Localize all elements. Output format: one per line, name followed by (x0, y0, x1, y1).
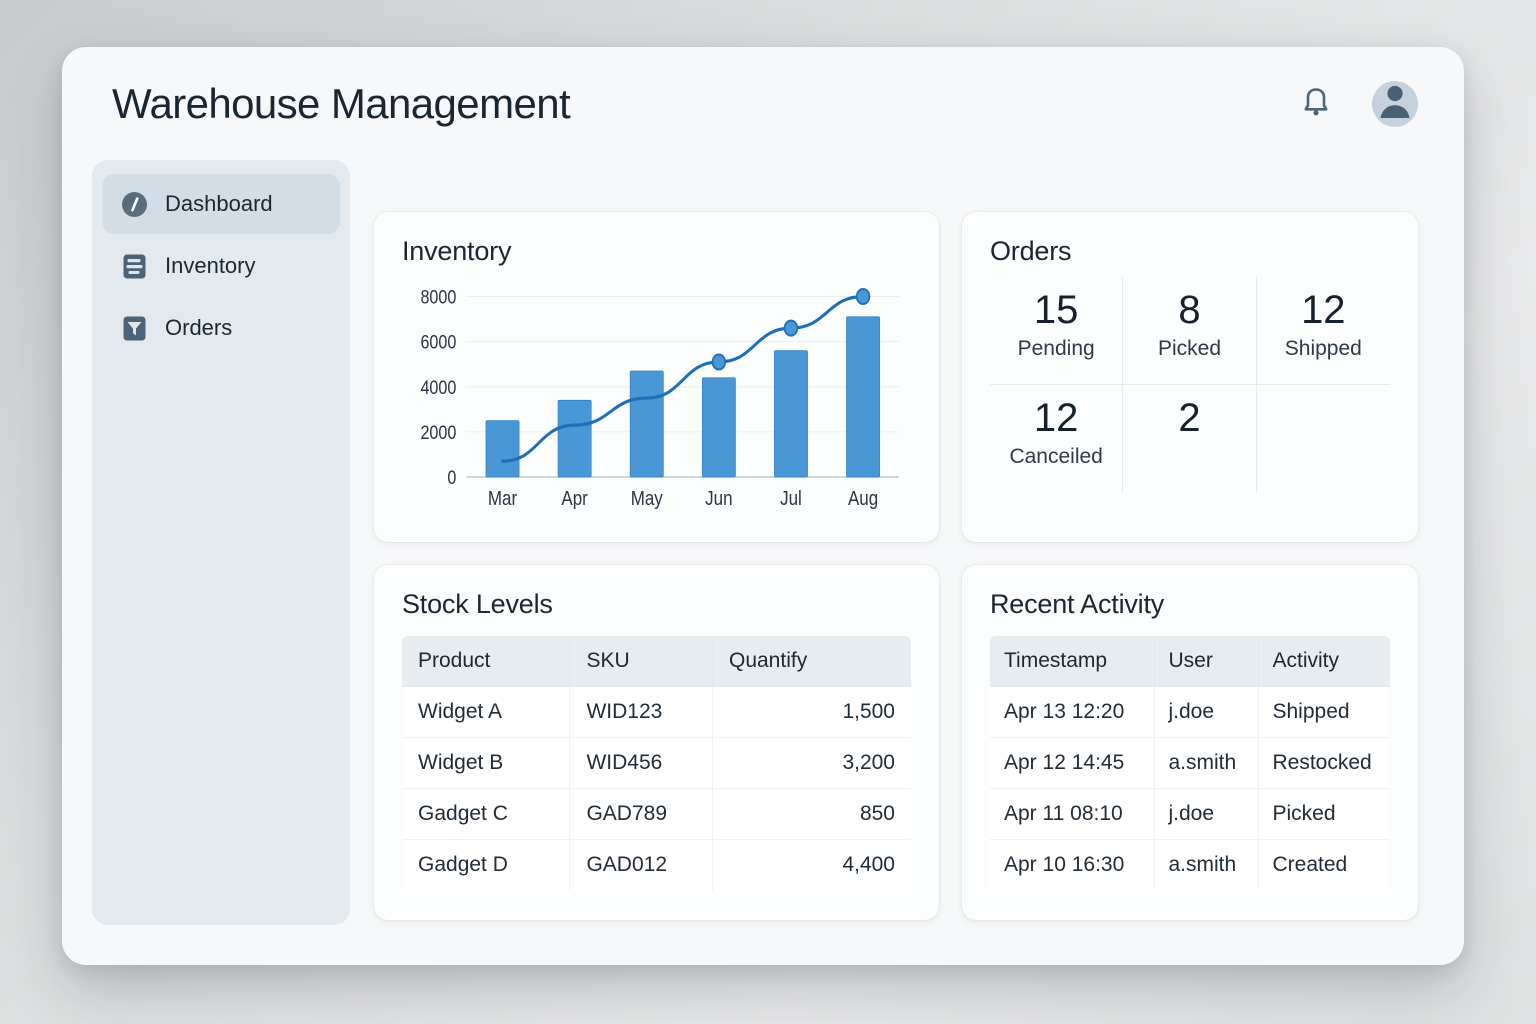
cell-timestamp: Apr 11 08:10 (990, 789, 1154, 840)
stat-value: 8 (1129, 289, 1249, 331)
table-row[interactable]: Apr 13 12:20 j.doe Shipped (990, 687, 1390, 738)
cell-quantity: 4,400 (712, 840, 911, 891)
chart-data-point[interactable] (785, 321, 798, 336)
stat-label: Shipped (1263, 337, 1384, 361)
stat-label: Canceiled (996, 445, 1116, 469)
sidebar-item-inventory[interactable]: Inventory (102, 236, 340, 296)
cell-timestamp: Apr 10 16:30 (990, 840, 1154, 891)
stat-pending[interactable]: 15 Pending (990, 277, 1123, 385)
sidebar-item-orders[interactable]: Orders (102, 298, 340, 358)
card-title-stock-levels: Stock Levels (402, 589, 911, 620)
column-header-product[interactable]: Product (402, 636, 570, 687)
cell-activity: Restocked (1258, 738, 1390, 789)
sidebar-item-label: Inventory (165, 253, 256, 279)
sidebar-item-label: Dashboard (165, 191, 273, 217)
x-axis-tick-label: May (631, 487, 664, 510)
y-axis-tick-label: 4000 (420, 377, 456, 399)
cell-product: Gadget D (402, 840, 570, 891)
table-row[interactable]: Widget B WID456 3,200 (402, 738, 911, 789)
cell-user: a.smith (1154, 840, 1258, 891)
chart-bar[interactable] (630, 371, 663, 477)
table-row[interactable]: Gadget D GAD012 4,400 (402, 840, 911, 891)
stock-levels-table: Product SKU Quantify Widget A WID123 1,5… (402, 636, 911, 890)
cell-sku: GAD789 (570, 789, 713, 840)
app-body: Dashboard Inventory (62, 160, 1464, 965)
cell-timestamp: Apr 13 12:20 (990, 687, 1154, 738)
notifications-button[interactable] (1296, 84, 1336, 124)
sidebar-item-dashboard[interactable]: Dashboard (102, 174, 340, 234)
y-axis-tick-label: 0 (447, 467, 456, 489)
stat-value: 15 (996, 289, 1116, 331)
card-title-orders: Orders (990, 236, 1390, 267)
sidebar: Dashboard Inventory (92, 160, 350, 925)
chart-data-point[interactable] (712, 354, 725, 369)
chart-bar[interactable] (702, 378, 735, 477)
chart-trend-line (503, 297, 864, 462)
app-header: Warehouse Management (62, 47, 1464, 160)
funnel-icon (120, 314, 149, 343)
cell-product: Widget B (402, 738, 570, 789)
cell-sku: WID123 (570, 687, 713, 738)
recent-activity-table: Timestamp User Activity Apr 13 12:20 j.d… (990, 636, 1390, 890)
chart-bar[interactable] (558, 400, 591, 477)
x-axis-tick-label: Apr (561, 487, 587, 510)
stat-label: Pending (996, 337, 1116, 361)
orders-stats-grid: 15 Pending 8 Picked 12 Shipped 12 Cancei… (990, 277, 1390, 493)
cell-quantity: 1,500 (712, 687, 911, 738)
x-axis-tick-label: Aug (848, 487, 878, 510)
chart-bar[interactable] (774, 351, 807, 477)
table-row[interactable]: Apr 10 16:30 a.smith Created (990, 840, 1390, 891)
cell-product: Widget A (402, 687, 570, 738)
app-window: Warehouse Management (62, 47, 1464, 965)
chart-data-point[interactable] (857, 289, 870, 304)
column-header-quantity[interactable]: Quantify (712, 636, 911, 687)
cell-sku: GAD012 (570, 840, 713, 891)
stat-empty (1257, 385, 1390, 493)
stat-cancelled[interactable]: 12 Canceiled (990, 385, 1123, 493)
cell-activity: Created (1258, 840, 1390, 891)
cell-quantity: 3,200 (712, 738, 911, 789)
x-axis-tick-label: Jun (705, 487, 732, 510)
stat-unlabeled[interactable]: 2 (1123, 385, 1256, 493)
y-axis-tick-label: 2000 (420, 422, 456, 444)
stat-picked[interactable]: 8 Picked (1123, 277, 1256, 385)
cell-user: j.doe (1154, 687, 1258, 738)
table-row[interactable]: Apr 11 08:10 j.doe Picked (990, 789, 1390, 840)
cell-activity: Picked (1258, 789, 1390, 840)
stat-value: 12 (996, 397, 1116, 439)
stat-value: 12 (1263, 289, 1384, 331)
orders-card: Orders 15 Pending 8 Picked 12 Shipped (962, 212, 1418, 542)
cell-timestamp: Apr 12 14:45 (990, 738, 1154, 789)
column-header-user[interactable]: User (1154, 636, 1258, 687)
stat-shipped[interactable]: 12 Shipped (1257, 277, 1390, 385)
cell-sku: WID456 (570, 738, 713, 789)
user-avatar-icon (1372, 81, 1418, 127)
x-axis-tick-label: Mar (488, 487, 517, 510)
card-title-recent-activity: Recent Activity (990, 589, 1390, 620)
x-axis-tick-label: Jul (780, 487, 802, 510)
table-header-row: Product SKU Quantify (402, 636, 911, 687)
cell-user: a.smith (1154, 738, 1258, 789)
bell-icon (1301, 85, 1331, 122)
cell-quantity: 850 (712, 789, 911, 840)
y-axis-tick-label: 8000 (420, 286, 456, 308)
page-title: Warehouse Management (112, 83, 570, 125)
table-row[interactable]: Gadget C GAD789 850 (402, 789, 911, 840)
avatar[interactable] (1372, 81, 1418, 127)
boxes-list-icon (120, 252, 149, 281)
cell-product: Gadget C (402, 789, 570, 840)
gauge-icon (120, 190, 149, 219)
header-actions (1296, 81, 1418, 127)
stock-levels-card: Stock Levels Product SKU Quantify Widget… (374, 565, 939, 920)
main-content: Inventory 02000400060008000MarAprMayJunJ… (374, 160, 1418, 965)
card-title-inventory: Inventory (402, 236, 911, 267)
sidebar-item-label: Orders (165, 315, 232, 341)
table-header-row: Timestamp User Activity (990, 636, 1390, 687)
column-header-activity[interactable]: Activity (1258, 636, 1390, 687)
recent-activity-card: Recent Activity Timestamp User Activity … (962, 565, 1418, 920)
inventory-chart: 02000400060008000MarAprMayJunJulAug (402, 273, 911, 523)
stat-value: 2 (1129, 397, 1249, 439)
stat-label: Picked (1129, 337, 1249, 361)
inventory-chart-svg: 02000400060008000MarAprMayJunJulAug (402, 273, 911, 523)
inventory-chart-card: Inventory 02000400060008000MarAprMayJunJ… (374, 212, 939, 542)
cell-activity: Shipped (1258, 687, 1390, 738)
chart-bar[interactable] (486, 421, 519, 477)
table-row[interactable]: Widget A WID123 1,500 (402, 687, 911, 738)
y-axis-tick-label: 6000 (420, 331, 456, 353)
table-row[interactable]: Apr 12 14:45 a.smith Restocked (990, 738, 1390, 789)
column-header-timestamp[interactable]: Timestamp (990, 636, 1154, 687)
column-header-sku[interactable]: SKU (570, 636, 713, 687)
cell-user: j.doe (1154, 789, 1258, 840)
chart-bar[interactable] (846, 317, 879, 477)
